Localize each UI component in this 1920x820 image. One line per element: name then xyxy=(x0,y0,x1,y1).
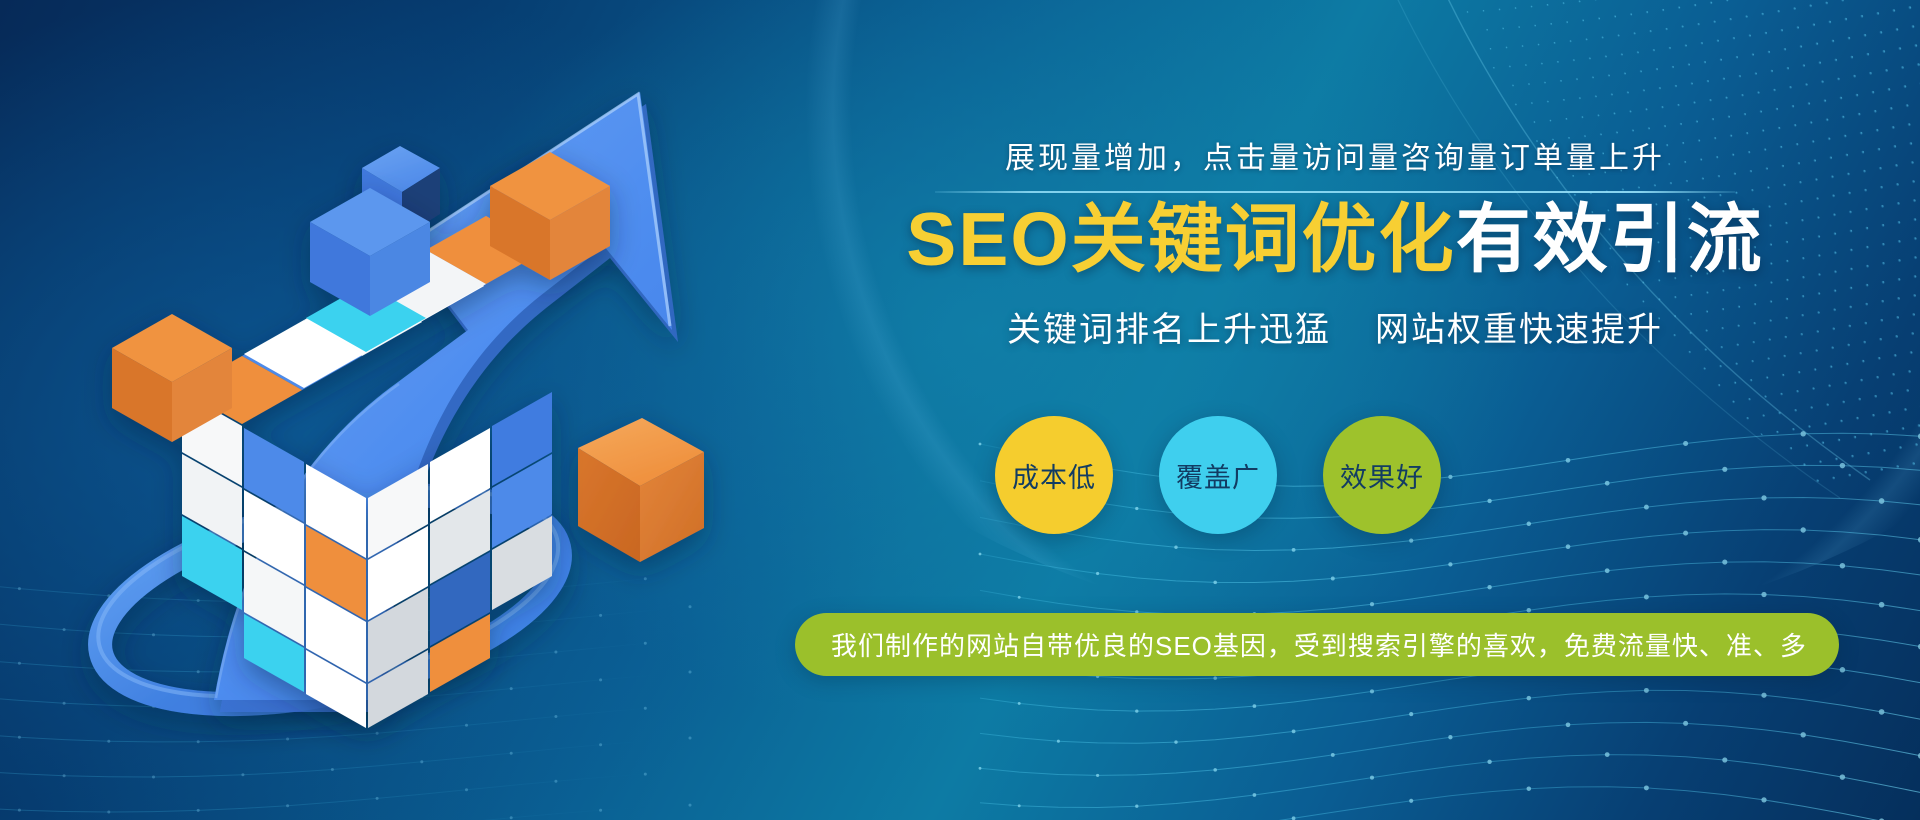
footer-pill[interactable]: 我们制作的网站自带优良的SEO基因，受到搜索引擎的喜欢，免费流量快、准、多 xyxy=(795,613,1839,676)
subline-left: 关键词排名上升迅猛 xyxy=(1007,311,1331,349)
cube-face-left xyxy=(182,392,366,682)
rubiks-cube-icon xyxy=(112,152,610,728)
cube-bottom-row xyxy=(244,614,490,728)
badge-cost-label: 成本低 xyxy=(1012,456,1096,495)
headline-highlight: SEO关键词优化 xyxy=(906,197,1455,281)
cube-face-right xyxy=(368,392,552,682)
badge-cost[interactable]: 成本低 xyxy=(995,416,1113,534)
cube-face-top xyxy=(182,216,546,424)
badge-reach-label: 覆盖广 xyxy=(1176,456,1260,495)
banner-subline: 关键词排名上升迅猛网站权重快速提升 xyxy=(885,302,1785,351)
badge-reach[interactable]: 覆盖广 xyxy=(1159,416,1277,534)
seo-illustration xyxy=(0,0,870,820)
banner-copy: 展现量增加，点击量访问量咨询量订单量上升 SEO关键词优化有效引流 关键词排名上… xyxy=(885,140,1785,351)
banner-eyebrow: 展现量增加，点击量访问量咨询量订单量上升 xyxy=(885,140,1785,178)
badge-effect[interactable]: 效果好 xyxy=(1323,416,1441,534)
dot-mesh-bottom-left-icon xyxy=(0,520,700,820)
orbit-ring-icon xyxy=(79,450,580,743)
footer-pill-text: 我们制作的网站自带优良的SEO基因，受到搜索引擎的喜欢，免费流量快、准、多 xyxy=(831,626,1807,663)
headline-rest: 有效引流 xyxy=(1456,197,1764,281)
seo-banner: 展现量增加，点击量访问量咨询量订单量上升 SEO关键词优化有效引流 关键词排名上… xyxy=(0,0,1920,820)
subline-right: 网站权重快速提升 xyxy=(1375,311,1663,349)
cube-detached-blue-top xyxy=(310,188,430,316)
floating-cube-orange-icon xyxy=(578,418,704,562)
floating-cube-blue-icon xyxy=(362,146,440,238)
banner-headline: SEO关键词优化有效引流 xyxy=(885,199,1785,280)
growth-arrow-icon xyxy=(214,92,678,712)
cube-detached-orange-top-right xyxy=(490,152,610,280)
badge-effect-label: 效果好 xyxy=(1340,456,1424,495)
divider-rule xyxy=(935,191,1735,193)
cube-detached-orange-left xyxy=(112,314,232,442)
feature-badges: 成本低 覆盖广 效果好 xyxy=(995,415,1555,535)
